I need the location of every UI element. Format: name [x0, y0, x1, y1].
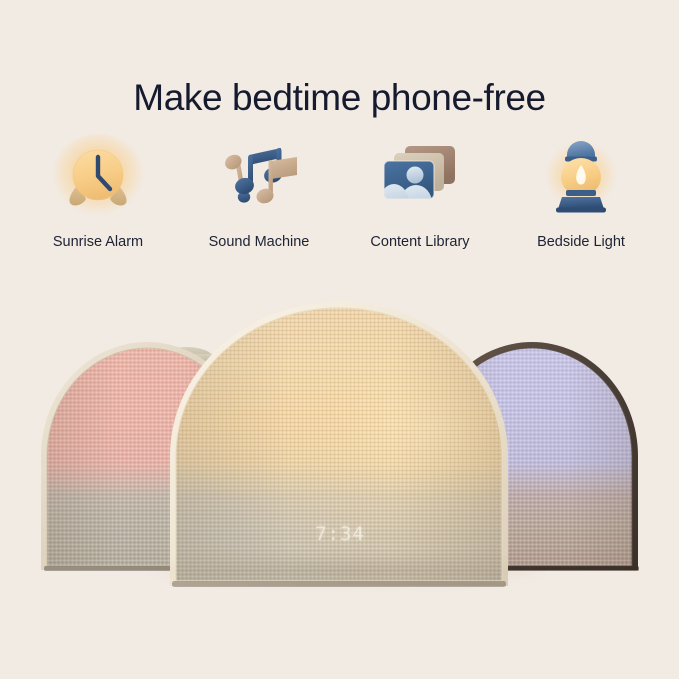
feature-list: Sunrise Alarm	[0, 133, 679, 251]
feature-item-bedside-light[interactable]: Bedside Light	[505, 133, 657, 251]
feature-item-content-library[interactable]: Content Library	[344, 133, 496, 251]
feature-item-sunrise-alarm[interactable]: Sunrise Alarm	[22, 133, 174, 251]
music-notes-icon	[211, 133, 307, 219]
feature-label-content-library: Content Library	[370, 233, 469, 251]
product-feature-page: Make bedtime phone-free	[0, 0, 679, 679]
feature-label-bedside-light: Bedside Light	[537, 233, 625, 251]
clock-icon	[50, 133, 146, 219]
product-hero-image	[0, 296, 679, 626]
page-title: Make bedtime phone-free	[0, 75, 679, 121]
feature-label-sunrise-alarm: Sunrise Alarm	[53, 233, 143, 251]
lantern-icon	[533, 133, 629, 219]
stacked-photos-icon	[372, 133, 468, 219]
feature-item-sound-machine[interactable]: Sound Machine	[183, 133, 335, 251]
feature-label-sound-machine: Sound Machine	[209, 233, 310, 251]
device-group	[0, 296, 679, 626]
